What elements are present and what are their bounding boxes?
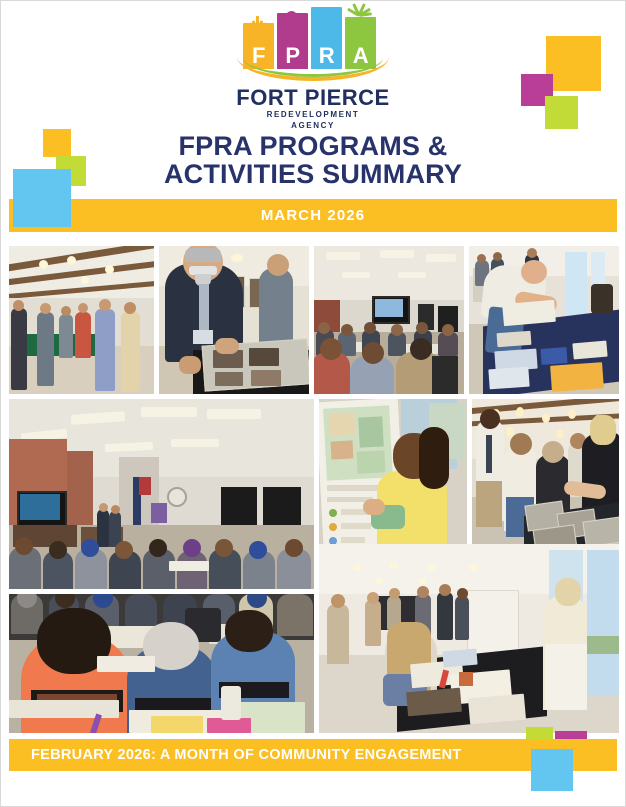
photo-8 bbox=[9, 594, 314, 733]
report-cover-page: F P R A FORT PIERCE REDEVELOPMENT AGENCY… bbox=[0, 0, 626, 807]
month-band: MARCH 2026 bbox=[9, 199, 617, 232]
footer-band: FEBRUARY 2026: A MONTH OF COMMUNITY ENGA… bbox=[9, 739, 617, 771]
page-title: FPRA PROGRAMS & ACTIVITIES SUMMARY bbox=[1, 132, 625, 188]
page-title-line1: FPRA PROGRAMS & bbox=[1, 132, 625, 160]
logo-wordmark: FORT PIERCE bbox=[236, 87, 389, 109]
logo-subtitle-line1: REDEVELOPMENT bbox=[267, 110, 360, 120]
fpra-logo: F P R A FORT PIERCE REDEVELOPMENT AGENCY bbox=[1, 13, 625, 131]
photo-9 bbox=[319, 544, 619, 733]
month-band-label: MARCH 2026 bbox=[261, 207, 365, 224]
photo-1 bbox=[9, 246, 154, 394]
logo-mark: F P R A bbox=[239, 13, 387, 85]
page-title-line2: ACTIVITIES SUMMARY bbox=[1, 160, 625, 188]
logo-subtitle-line2: AGENCY bbox=[291, 121, 335, 131]
decoration-square-blue-top-left bbox=[13, 169, 71, 227]
photo-3 bbox=[314, 246, 464, 394]
photo-5 bbox=[9, 399, 314, 589]
decoration-square-blue-bottom-right bbox=[531, 749, 573, 791]
photo-7 bbox=[472, 399, 619, 549]
photo-2 bbox=[159, 246, 309, 394]
footer-band-label: FEBRUARY 2026: A MONTH OF COMMUNITY ENGA… bbox=[31, 747, 462, 763]
photo-4 bbox=[469, 246, 619, 394]
page-header: F P R A FORT PIERCE REDEVELOPMENT AGENCY… bbox=[1, 1, 625, 241]
photo-collage bbox=[9, 246, 617, 733]
